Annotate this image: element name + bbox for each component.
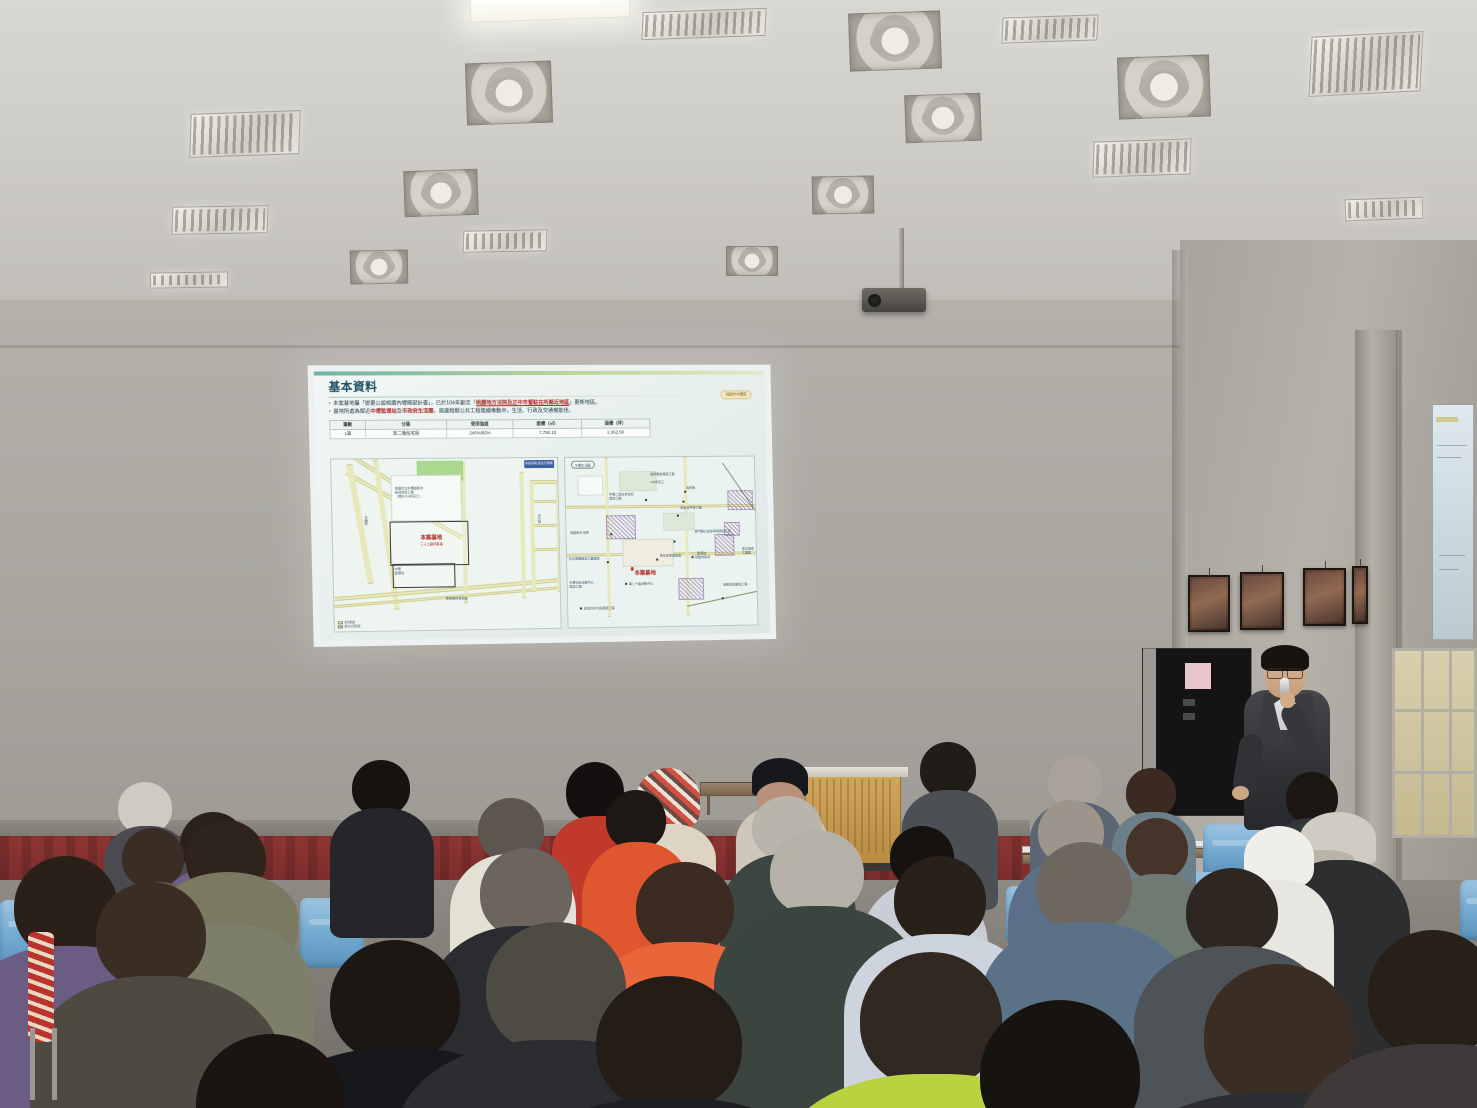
posted-notice bbox=[1185, 663, 1211, 689]
map-legend: 基地範圍 都市計畫範圍 bbox=[338, 620, 361, 628]
walking-stick bbox=[30, 1028, 35, 1100]
head bbox=[636, 862, 734, 954]
map-poi-label: 第二十連活動中心 bbox=[629, 582, 653, 586]
map-annotation: 桃園市立中壢國民中 新建增建工程 （預計114年完工） bbox=[395, 487, 466, 499]
slide-title-rule bbox=[329, 395, 754, 398]
head bbox=[1126, 818, 1188, 880]
circular-air-diffuser-icon bbox=[350, 249, 409, 284]
presentation-slide: 基本資料 桃園市中壢區 • 本案基地屬「變更公設桃園內壢細部計畫」，已於104年… bbox=[314, 371, 770, 641]
framed-painting bbox=[1303, 568, 1346, 626]
map-header-pill: 中壢生活圈 bbox=[571, 461, 595, 469]
wall-map-poster bbox=[1432, 404, 1474, 640]
table-cell: 7,750.10 bbox=[513, 428, 581, 437]
walking-stick bbox=[52, 1028, 57, 1100]
projector-mount-pole bbox=[899, 228, 904, 290]
map-road-label: 中正路 bbox=[536, 514, 540, 523]
slide-title: 基本資料 bbox=[328, 380, 753, 394]
map-poi-label: 政府廳舍興建工程 bbox=[650, 473, 674, 477]
map-poi-label: 正大型轉運站工業園區 bbox=[569, 557, 600, 561]
head bbox=[96, 882, 206, 988]
lectern-top bbox=[800, 767, 908, 777]
window bbox=[1392, 648, 1477, 838]
site-marker-pin-icon bbox=[630, 567, 633, 571]
recessed-fluorescent-light bbox=[1308, 31, 1423, 97]
site-locator-box: 本案基地 區位示意圖 bbox=[524, 460, 554, 468]
wall-ceiling-seam bbox=[0, 345, 1200, 348]
projection-screen: 基本資料 桃園市中壢區 • 本案基地屬「變更公設桃園內壢細部計畫」，已於104年… bbox=[308, 365, 777, 647]
framed-painting bbox=[1352, 566, 1368, 624]
circular-air-diffuser-icon bbox=[465, 61, 553, 126]
framed-painting bbox=[1240, 572, 1284, 630]
map-annotation: 中壢 監理站 bbox=[395, 568, 424, 576]
map-poi-label: 青年住宅興建案 bbox=[660, 554, 681, 558]
eyeglasses-icon bbox=[1267, 668, 1303, 676]
table-cell: 2,362.50 bbox=[582, 428, 650, 437]
table-row: 1筆 第二種住宅區 240%/60% 7,750.10 2,362.50 bbox=[330, 428, 650, 439]
recessed-fluorescent-light bbox=[189, 110, 300, 158]
recessed-fluorescent-light bbox=[463, 229, 548, 252]
circular-air-diffuser-icon bbox=[726, 246, 778, 276]
overhead-projector bbox=[862, 288, 926, 312]
chair[interactable] bbox=[1460, 880, 1477, 940]
bullet-dot-icon: • bbox=[329, 400, 331, 408]
site-label: 本案基地 三十工廠停車場 bbox=[398, 533, 465, 547]
head bbox=[894, 856, 986, 944]
framed-painting bbox=[1188, 575, 1230, 632]
circular-air-diffuser-icon bbox=[904, 93, 982, 144]
table-header-cell: 面積（坪） bbox=[581, 419, 649, 428]
site-data-table: 筆數 分區 使用強度 面積（㎡） 面積（坪） 1筆 第二種住宅區 240%/60… bbox=[329, 418, 650, 439]
table-header-cell: 筆數 bbox=[330, 420, 366, 429]
presenter-right-hand bbox=[1280, 692, 1295, 708]
projector-lens-icon bbox=[868, 294, 881, 307]
map-poi-label: 運輸站場整建工程 bbox=[723, 583, 747, 587]
map-poi-label: 中壢社區活動中心 興建工程 bbox=[569, 581, 594, 589]
bullet-text: 本案基地屬「變更公設桃園內壢細部計畫」，已於104年劃定「桃園地方法院及正中市暨… bbox=[333, 399, 600, 408]
map-road-label: 更寮路快速道路 bbox=[446, 597, 468, 601]
table-cell: 第二種住宅區 bbox=[366, 429, 447, 439]
map-poi-sub: 118年完工 bbox=[650, 481, 664, 485]
circular-air-diffuser-icon bbox=[848, 10, 942, 71]
table-header-cell: 面積（㎡） bbox=[513, 419, 581, 428]
circular-air-diffuser-icon bbox=[403, 169, 479, 218]
slide-maps-area: 桃園市立中壢國民中 新建增建工程 （預計114年完工） 本案基地 三十工廠停車場… bbox=[330, 456, 758, 633]
presenter-left-hand bbox=[1232, 786, 1249, 800]
table-header-cell: 分區 bbox=[365, 420, 446, 429]
map-poi-label: 中壢二信社會住宅 興建工程 bbox=[609, 493, 634, 501]
map-poi-label: 消防隊 bbox=[686, 487, 695, 491]
head bbox=[1036, 842, 1132, 932]
map-poi-label: 桃園地方法院 bbox=[570, 532, 589, 536]
site-location-map: 桃園市立中壢國民中 新建增建工程 （預計114年完工） 本案基地 三十工廠停車場… bbox=[330, 457, 561, 633]
circular-air-diffuser-icon bbox=[1117, 54, 1211, 119]
circular-air-diffuser-icon bbox=[812, 175, 875, 214]
slide-location-badge: 桃園市中壢區 bbox=[721, 390, 752, 399]
head bbox=[122, 828, 184, 888]
surrounding-projects-map: 中壢生活圈 bbox=[564, 456, 759, 629]
map-poi-label: 地政及戶政工程 bbox=[680, 506, 701, 510]
map-poi-label: 成達高中力館興建工程 bbox=[584, 607, 615, 611]
torso bbox=[330, 808, 434, 938]
recessed-fluorescent-light bbox=[641, 8, 766, 40]
recessed-fluorescent-light bbox=[1092, 138, 1191, 177]
head bbox=[1126, 768, 1176, 818]
bullet-text: 基地所處為鄰近中壢監理站及市政府生活圈，周邊租鄰公共工程陸續推動中，生活、行政及… bbox=[333, 408, 574, 417]
photo-scene: 基本資料 桃園市中壢區 • 本案基地屬「變更公設桃園內壢細部計畫」，已於104年… bbox=[0, 0, 1477, 1108]
table-cell: 1筆 bbox=[330, 429, 366, 438]
map-poi-label: 廈門路公館停車場興建工程 bbox=[695, 530, 731, 534]
map-poi-label: 桃園市政府 bbox=[695, 556, 710, 560]
head bbox=[770, 830, 864, 916]
list-item: • 基地所處為鄰近中壢監理站及市政府生活圈，周邊租鄰公共工程陸續推動中，生活、行… bbox=[329, 407, 754, 416]
head bbox=[606, 790, 666, 850]
slide-bullet-list: • 本案基地屬「變更公設桃園內壢細部計畫」，已於104年劃定「桃園地方法院及正中… bbox=[329, 399, 754, 417]
table-header-cell: 使用強度 bbox=[446, 419, 513, 428]
map-poi-label: 區交通車 工業區 bbox=[742, 547, 754, 555]
recessed-fluorescent-light bbox=[150, 271, 228, 288]
recessed-fluorescent-light bbox=[172, 205, 269, 235]
recessed-fluorescent-light bbox=[1345, 197, 1424, 222]
table-cell: 240%/60% bbox=[446, 428, 513, 437]
patterned-umbrella bbox=[28, 932, 54, 1042]
head bbox=[596, 976, 742, 1108]
slide-top-accent-bar bbox=[314, 371, 765, 376]
recessed-fluorescent-light bbox=[1001, 14, 1098, 43]
bullet-dot-icon: • bbox=[329, 409, 331, 417]
head bbox=[1186, 868, 1278, 956]
map-road-label: 中壢路 bbox=[363, 516, 367, 525]
head bbox=[330, 940, 460, 1062]
recessed-fluorescent-light bbox=[470, 0, 631, 23]
site-label: 本案基地 bbox=[634, 569, 655, 577]
